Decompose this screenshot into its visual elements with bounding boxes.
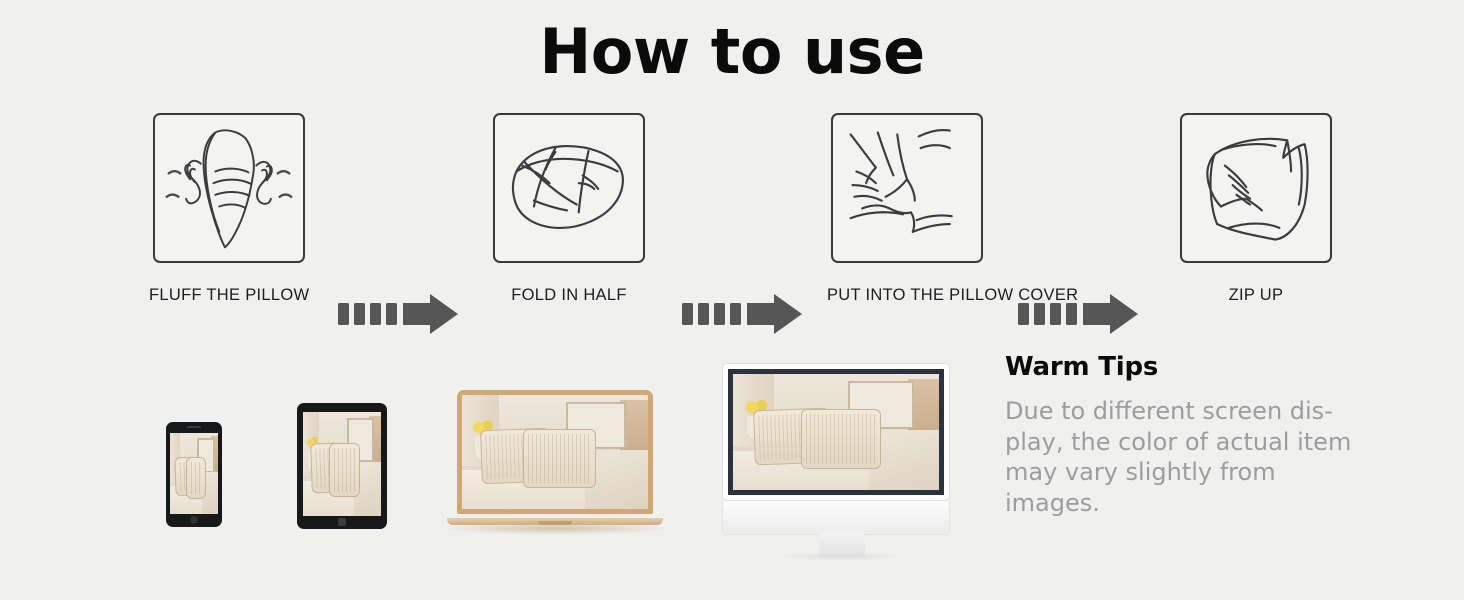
warm-tips-section: Warm Tips Due to different screen dis- p… bbox=[1005, 352, 1370, 519]
step-1: FLUFF THE PILLOW bbox=[149, 113, 309, 305]
step-1-label: FLUFF THE PILLOW bbox=[149, 286, 309, 305]
desktop-monitor-mockup bbox=[722, 363, 962, 553]
monitor-stand-foot bbox=[782, 553, 902, 561]
warm-tips-line-2: play, the color of actual item bbox=[1005, 427, 1370, 458]
step-4-illustration-box bbox=[1180, 113, 1332, 263]
step-3: PUT INTO THE PILLOW COVER bbox=[827, 113, 987, 305]
pillow-insert-icon bbox=[833, 115, 981, 261]
phone-speaker bbox=[187, 426, 201, 428]
tablet-screen bbox=[303, 412, 381, 516]
warm-tips-line-1: Due to different screen dis- bbox=[1005, 396, 1370, 427]
step-2-illustration-box bbox=[493, 113, 645, 263]
laptop-shadow bbox=[441, 524, 669, 535]
dashed-arrow-right-icon-1 bbox=[334, 293, 462, 335]
warm-tips-body: Due to different screen dis- play, the c… bbox=[1005, 396, 1370, 519]
pillow-zip-icon bbox=[1182, 115, 1330, 261]
step-4-label: ZIP UP bbox=[1176, 286, 1336, 305]
page-title: How to use bbox=[0, 18, 1464, 86]
laptop-lid bbox=[457, 390, 653, 514]
monitor-frame bbox=[722, 363, 950, 501]
pillow-fluff-icon bbox=[155, 115, 303, 261]
monitor-chin bbox=[722, 501, 950, 535]
warm-tips-line-3: may vary slightly from bbox=[1005, 457, 1370, 488]
pillow-folded-icon bbox=[495, 115, 643, 261]
dashed-arrow-right-icon-3 bbox=[1014, 293, 1142, 335]
steps-row: FLUFF THE PILLOW bbox=[0, 113, 1464, 323]
laptop-notch bbox=[538, 521, 572, 525]
laptop-mockup bbox=[447, 390, 663, 535]
step-3-label: PUT INTO THE PILLOW COVER bbox=[827, 286, 987, 305]
phone-screen bbox=[170, 433, 218, 514]
pillow-product-photo bbox=[733, 374, 939, 490]
device-mockups bbox=[0, 355, 1000, 585]
warm-tips-line-4: images. bbox=[1005, 488, 1370, 519]
step-2-label: FOLD IN HALF bbox=[489, 286, 649, 305]
smartphone-mockup bbox=[166, 422, 222, 527]
monitor-screen bbox=[728, 369, 944, 495]
phone-home-button bbox=[190, 516, 198, 524]
dashed-arrow-right-icon-2 bbox=[678, 293, 806, 335]
laptop-screen bbox=[462, 395, 648, 509]
tablet-home-button bbox=[338, 518, 346, 526]
pillow-product-photo bbox=[303, 412, 381, 516]
pillow-product-photo bbox=[462, 395, 648, 509]
tablet-mockup bbox=[297, 403, 387, 529]
pillow-product-photo bbox=[170, 433, 218, 514]
how-to-use-page: How to use bbox=[0, 0, 1464, 600]
step-1-illustration-box bbox=[153, 113, 305, 263]
step-2: FOLD IN HALF bbox=[489, 113, 649, 305]
step-4: ZIP UP bbox=[1176, 113, 1336, 305]
step-3-illustration-box bbox=[831, 113, 983, 263]
warm-tips-title: Warm Tips bbox=[1005, 352, 1370, 382]
